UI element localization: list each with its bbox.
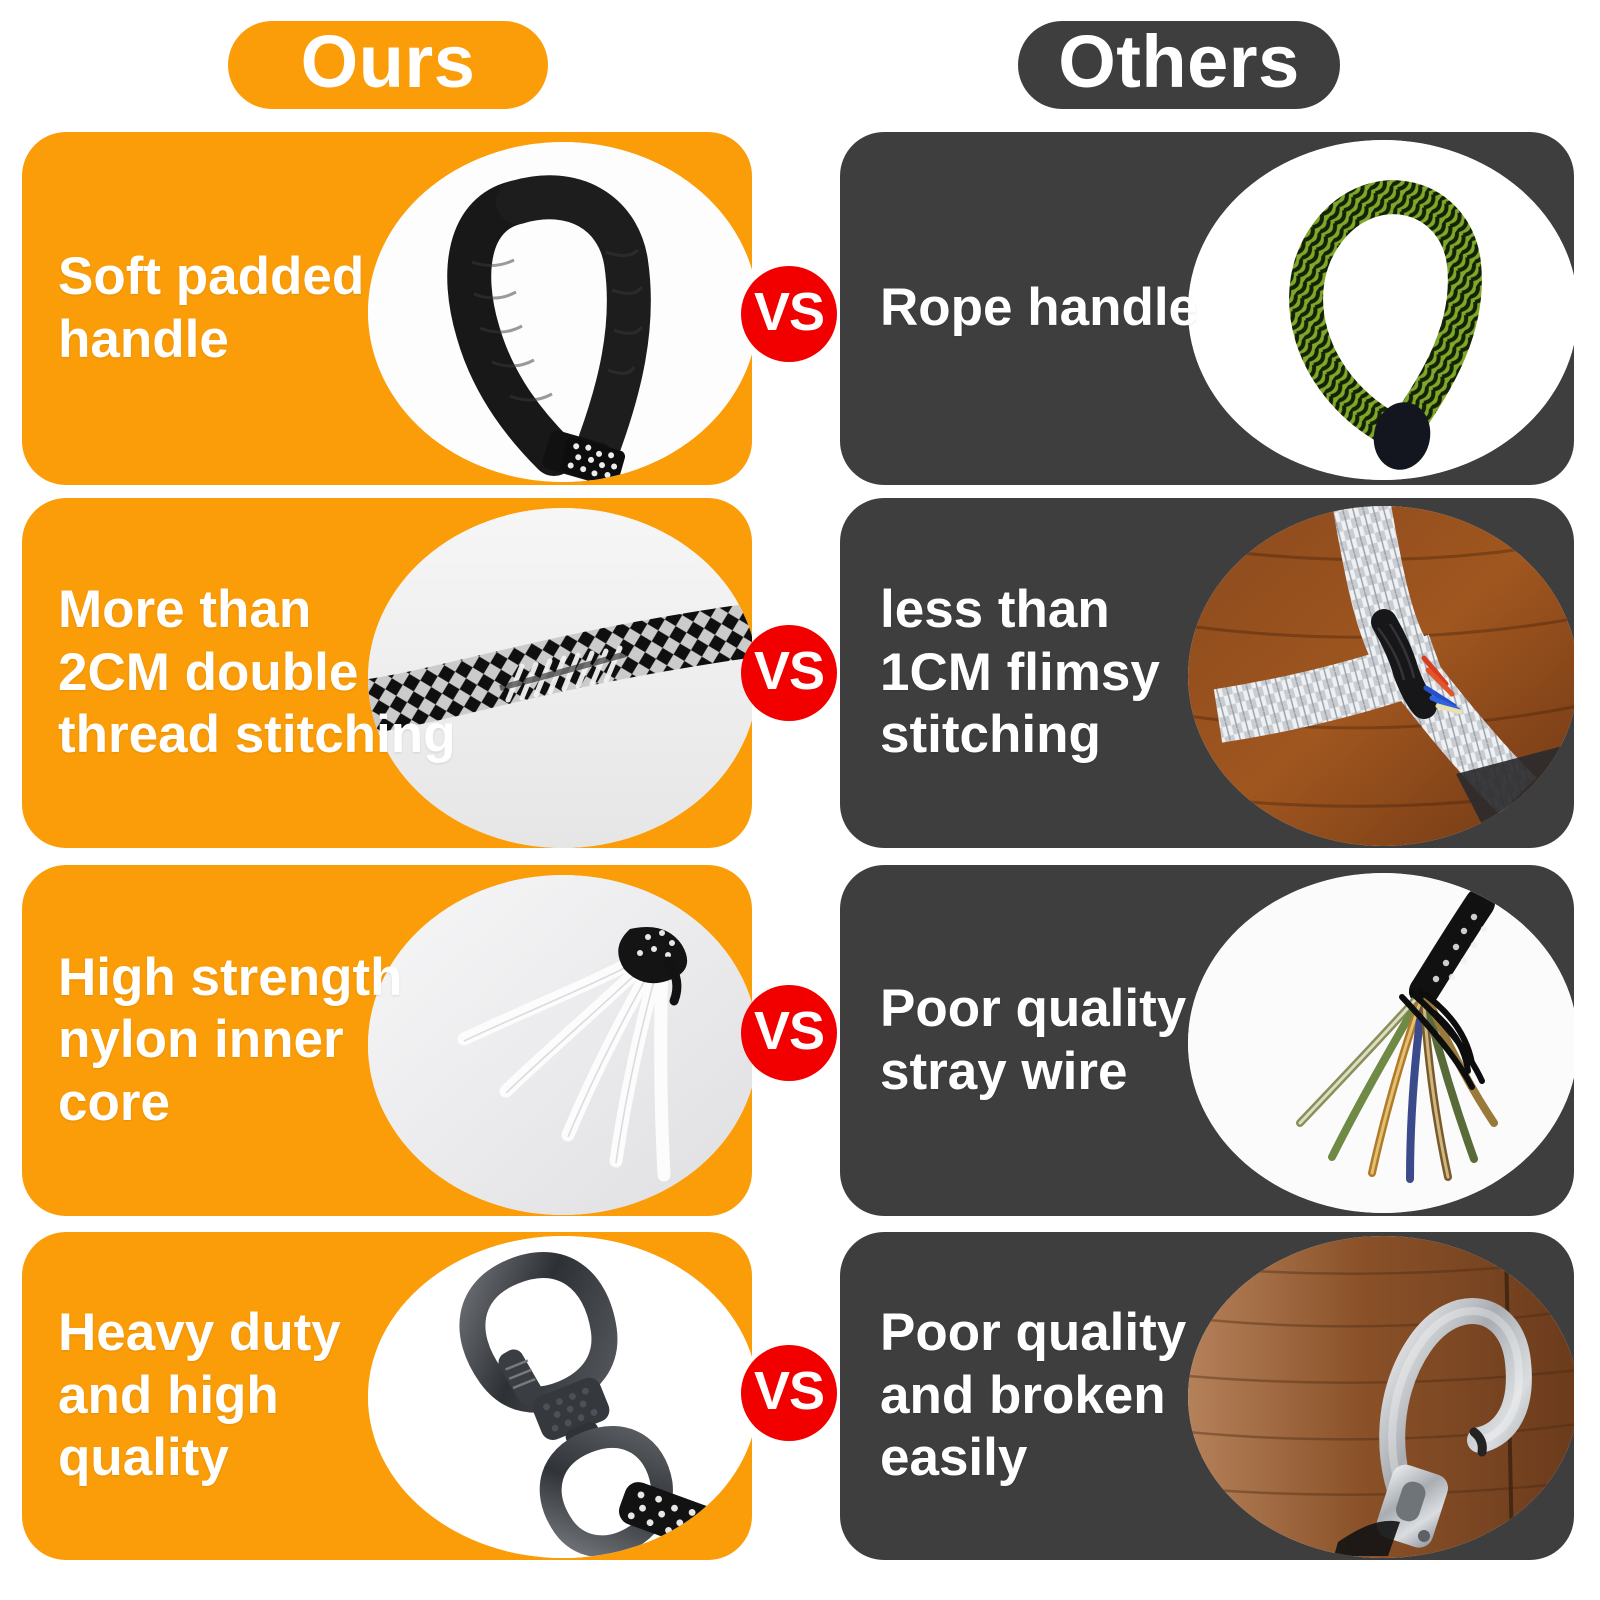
others-label-row-4: Poor quality and broken easily bbox=[840, 1302, 1186, 1490]
heavy-duty-clasp-photo bbox=[368, 1236, 752, 1558]
column-header-ours: Ours bbox=[228, 21, 548, 109]
ours-label-row-2: More than 2CM double thread stitching bbox=[22, 579, 456, 767]
ours-label-row-3: High strength nylon inner core bbox=[22, 947, 402, 1135]
ours-label-row-4: Heavy duty and high quality bbox=[22, 1302, 341, 1490]
ours-label-row-1: Soft padded handle bbox=[22, 246, 364, 371]
broken-clasp-photo bbox=[1188, 1236, 1574, 1558]
vs-badge-row-3: VS bbox=[741, 985, 837, 1081]
stray-wire-photo bbox=[1188, 873, 1574, 1213]
others-label-row-3: Poor quality stray wire bbox=[840, 978, 1186, 1103]
vs-badge-label-row-2: VS bbox=[754, 644, 824, 698]
vs-badge-row-4: VS bbox=[741, 1345, 837, 1441]
others-label-row-2: less than 1CM flimsy stitching bbox=[840, 579, 1160, 767]
vs-badge-row-2: VS bbox=[741, 625, 837, 721]
ours-card-row-3: High strength nylon inner core bbox=[22, 865, 752, 1216]
nylon-inner-core-photo bbox=[368, 875, 752, 1215]
vs-badge-label-row-4: VS bbox=[754, 1364, 824, 1418]
ours-card-row-2: More than 2CM double thread stitching bbox=[22, 498, 752, 848]
flimsy-stitching-photo bbox=[1188, 506, 1574, 846]
vs-badge-label-row-1: VS bbox=[754, 285, 824, 339]
column-header-ours-label: Ours bbox=[301, 25, 476, 99]
ours-card-row-1: Soft padded handle bbox=[22, 132, 752, 485]
ours-card-row-4: Heavy duty and high quality bbox=[22, 1232, 752, 1560]
others-card-row-2: less than 1CM flimsy stitching bbox=[840, 498, 1574, 848]
comparison-infographic: Ours Others Soft padded handle bbox=[0, 0, 1600, 1600]
column-header-others-label: Others bbox=[1058, 25, 1300, 99]
rope-handle-photo bbox=[1188, 140, 1574, 480]
others-card-row-4: Poor quality and broken easily bbox=[840, 1232, 1574, 1560]
vs-badge-label-row-3: VS bbox=[754, 1004, 824, 1058]
others-card-row-1: Rope handle bbox=[840, 132, 1574, 485]
vs-badge-row-1: VS bbox=[741, 266, 837, 362]
others-label-row-1: Rope handle bbox=[840, 277, 1198, 340]
others-card-row-3: Poor quality stray wire bbox=[840, 865, 1574, 1216]
column-header-others: Others bbox=[1018, 21, 1340, 109]
padded-handle-photo bbox=[368, 142, 752, 482]
